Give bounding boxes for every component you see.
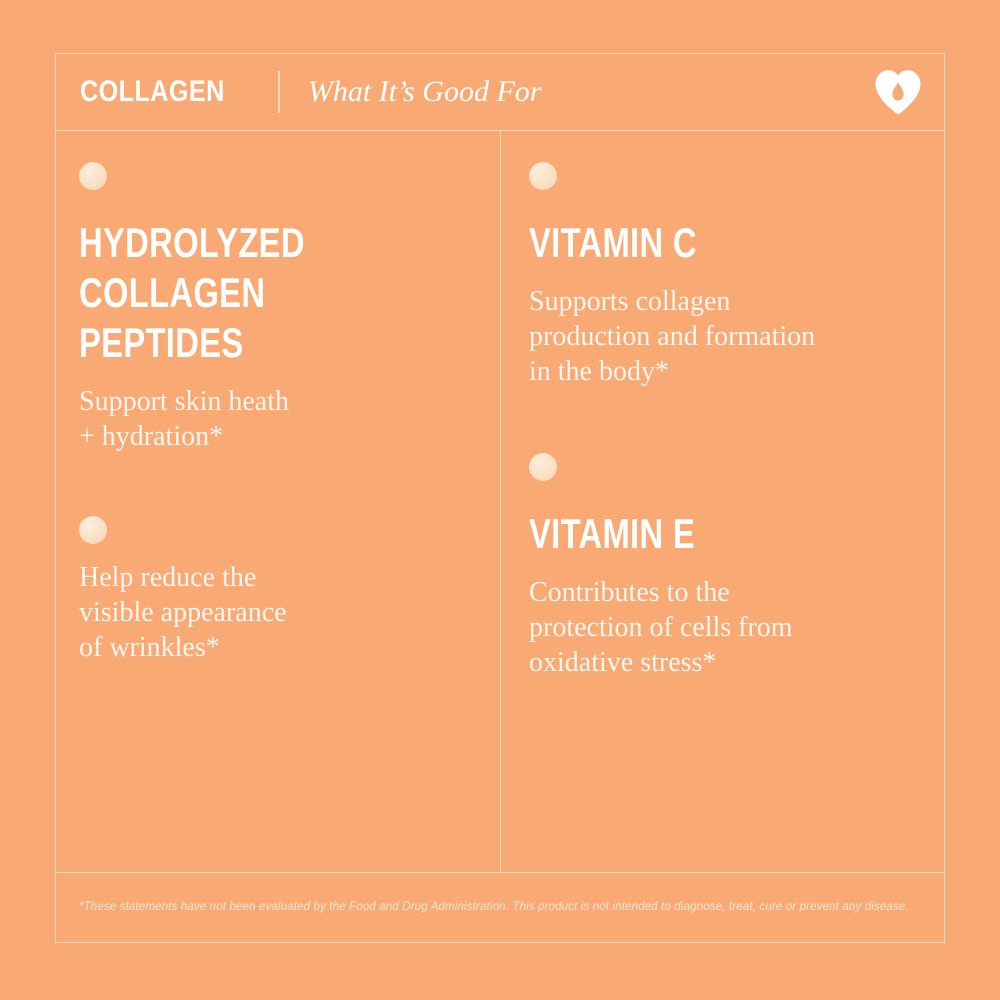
card-header: COLLAGEN What It’s Good For [56, 54, 944, 131]
column-right: VITAMIN C Supports collagen production a… [500, 131, 944, 872]
heart-droplet-icon [874, 69, 922, 115]
card-body: HYDROLYZED COLLAGEN PEPTIDES Support ski… [56, 131, 944, 872]
benefit-title: VITAMIN E [529, 509, 829, 559]
bullet-dot-icon [79, 516, 107, 544]
benefit-text: Support skin heath + hydration* [79, 384, 470, 454]
benefit-item: VITAMIN E Contributes to the protection … [529, 453, 914, 680]
benefit-title: VITAMIN C [529, 218, 829, 268]
header-tagline: What It’s Good For [308, 77, 542, 107]
brand-wordmark: COLLAGEN [80, 77, 225, 107]
benefit-text: Contributes to the protection of cells f… [529, 575, 914, 680]
header-divider [278, 71, 280, 113]
benefit-item: Help reduce the visible appearance of wr… [79, 516, 470, 665]
fda-disclaimer: *These statements have not been evaluate… [79, 900, 909, 915]
bullet-dot-icon [529, 453, 557, 481]
bullet-dot-icon [529, 162, 557, 190]
benefit-item: HYDROLYZED COLLAGEN PEPTIDES Support ski… [79, 162, 470, 454]
benefit-title: HYDROLYZED COLLAGEN PEPTIDES [79, 218, 384, 368]
info-card: COLLAGEN What It’s Good For HYDROLYZED C… [55, 53, 945, 943]
spacer [79, 454, 470, 516]
column-left: HYDROLYZED COLLAGEN PEPTIDES Support ski… [56, 131, 500, 872]
benefit-text: Supports collagen production and formati… [529, 284, 914, 389]
benefit-item: VITAMIN C Supports collagen production a… [529, 162, 914, 389]
benefit-text: Help reduce the visible appearance of wr… [79, 560, 470, 665]
card-footer: *These statements have not been evaluate… [56, 872, 944, 942]
bullet-dot-icon [79, 162, 107, 190]
spacer [529, 389, 914, 453]
